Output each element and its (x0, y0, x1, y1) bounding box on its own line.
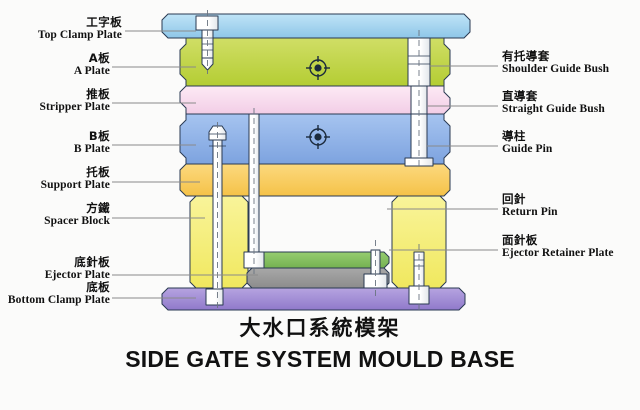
label-top-clamp-plate-en: Top Clamp Plate (0, 29, 122, 42)
label-spacer-block-en: Spacer Block (0, 215, 110, 228)
title-english: SIDE GATE SYSTEM MOULD BASE (0, 346, 640, 373)
label-guide-pin-en: Guide Pin (502, 143, 640, 156)
label-spacer-block: 方鐵 Spacer Block (0, 202, 110, 228)
cap-screw-head (196, 16, 218, 30)
label-shoulder-guide-bush-cn: 有托導套 (502, 50, 640, 63)
label-stripper-plate-en: Stripper Plate (0, 101, 110, 114)
label-guide-pin-cn: 導柱 (502, 130, 640, 143)
label-a-plate-cn: A板 (0, 52, 110, 65)
label-ejector-retainer-plate-cn: 面針板 (502, 234, 640, 247)
plate-ejector-retainer (247, 252, 389, 268)
label-ejector-retainer-plate: 面針板 Ejector Retainer Plate (502, 234, 640, 260)
label-stripper-plate-cn: 推板 (0, 88, 110, 101)
label-ejector-plate-cn: 底針板 (0, 256, 110, 269)
label-b-plate: B板 B Plate (0, 130, 110, 156)
label-straight-guide-bush-en: Straight Guide Bush (502, 103, 640, 116)
label-bottom-clamp-plate: 底板 Bottom Clamp Plate (0, 281, 110, 307)
label-return-pin: 回針 Return Pin (502, 193, 640, 219)
label-straight-guide-bush-cn: 直導套 (502, 90, 640, 103)
label-ejector-plate: 底針板 Ejector Plate (0, 256, 110, 282)
label-spacer-block-cn: 方鐵 (0, 202, 110, 215)
label-bottom-clamp-plate-en: Bottom Clamp Plate (0, 294, 110, 307)
label-guide-pin: 導柱 Guide Pin (502, 130, 640, 156)
label-top-clamp-plate: 工字板 Top Clamp Plate (0, 16, 122, 42)
label-b-plate-cn: B板 (0, 130, 110, 143)
label-support-plate-en: Support Plate (0, 179, 110, 192)
label-ejector-retainer-plate-en: Ejector Retainer Plate (502, 247, 640, 260)
label-a-plate-en: A Plate (0, 65, 110, 78)
label-shoulder-guide-bush: 有托導套 Shoulder Guide Bush (502, 50, 640, 76)
ejector-pin-foot-left (206, 289, 223, 305)
label-bottom-clamp-plate-cn: 底板 (0, 281, 110, 294)
diagram-stage: 工字板 Top Clamp Plate A板 A Plate 推板 Stripp… (0, 0, 640, 410)
label-support-plate-cn: 托板 (0, 166, 110, 179)
label-return-pin-cn: 回針 (502, 193, 640, 206)
label-top-clamp-plate-cn: 工字板 (0, 16, 122, 29)
label-shoulder-guide-bush-en: Shoulder Guide Bush (502, 63, 640, 76)
label-straight-guide-bush: 直導套 Straight Guide Bush (502, 90, 640, 116)
plate-stripper (180, 86, 450, 114)
label-support-plate: 托板 Support Plate (0, 166, 110, 192)
label-b-plate-en: B Plate (0, 143, 110, 156)
label-a-plate: A板 A Plate (0, 52, 110, 78)
title-chinese: 大水口系統模架 (0, 312, 640, 342)
diagram-title: 大水口系統模架 SIDE GATE SYSTEM MOULD BASE (0, 312, 640, 373)
label-stripper-plate: 推板 Stripper Plate (0, 88, 110, 114)
label-return-pin-en: Return Pin (502, 206, 640, 219)
